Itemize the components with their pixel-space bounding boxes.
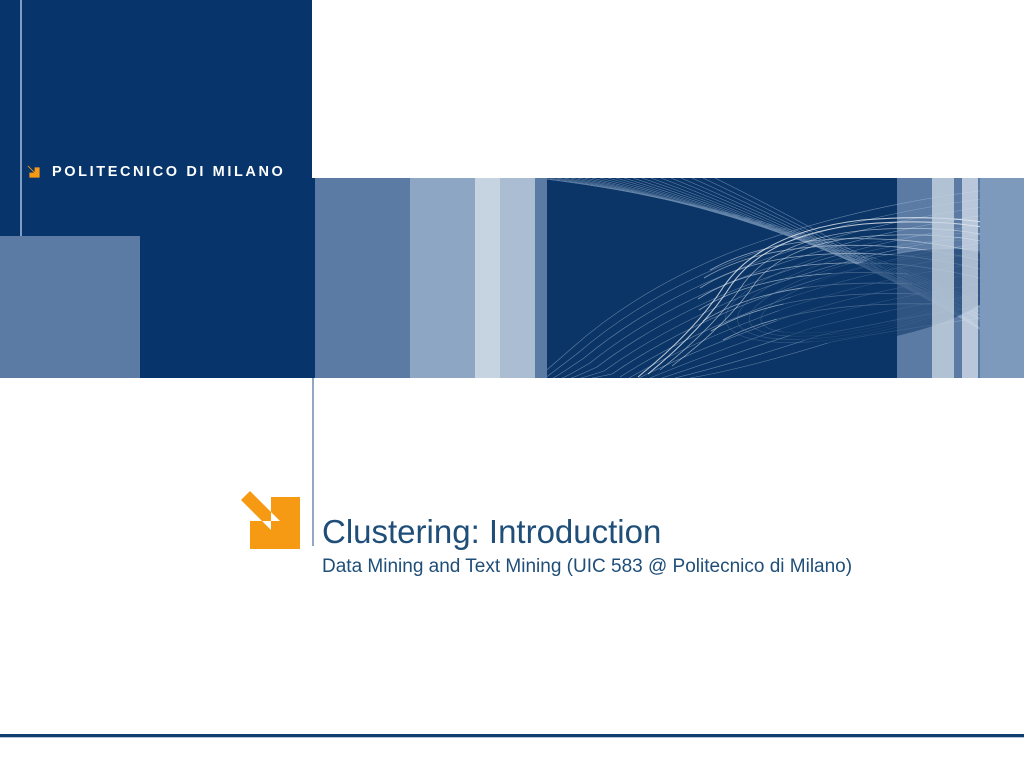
banner-left-edge xyxy=(312,178,315,378)
title-divider-rule xyxy=(312,378,314,546)
banner-stripe xyxy=(410,178,475,378)
steel-blue-square xyxy=(0,236,140,378)
title-block: Clustering: Introduction Data Mining and… xyxy=(322,512,982,580)
banner-stripe xyxy=(312,178,410,378)
banner-stripe xyxy=(980,178,1024,378)
arrow-down-right-large-icon xyxy=(238,487,310,553)
slide-canvas: POLITECNICO DI MILANO xyxy=(0,0,1024,768)
banner-stripe xyxy=(500,178,535,378)
decorative-banner xyxy=(312,178,1024,378)
slide-footer: Prof. Pier Luca Lanzi xyxy=(0,738,1024,768)
banner-stripe xyxy=(535,178,547,378)
banner-stripe xyxy=(932,178,954,378)
logo-wordmark: POLITECNICO DI MILANO xyxy=(52,164,285,180)
arrow-down-right-icon xyxy=(26,164,43,181)
page-subtitle: Data Mining and Text Mining (UIC 583 @ P… xyxy=(322,554,982,580)
banner-stripe xyxy=(475,178,500,378)
politecnico-logo: POLITECNICO DI MILANO xyxy=(26,160,285,184)
banner-stripe xyxy=(962,178,978,378)
page-title: Clustering: Introduction xyxy=(322,512,982,552)
